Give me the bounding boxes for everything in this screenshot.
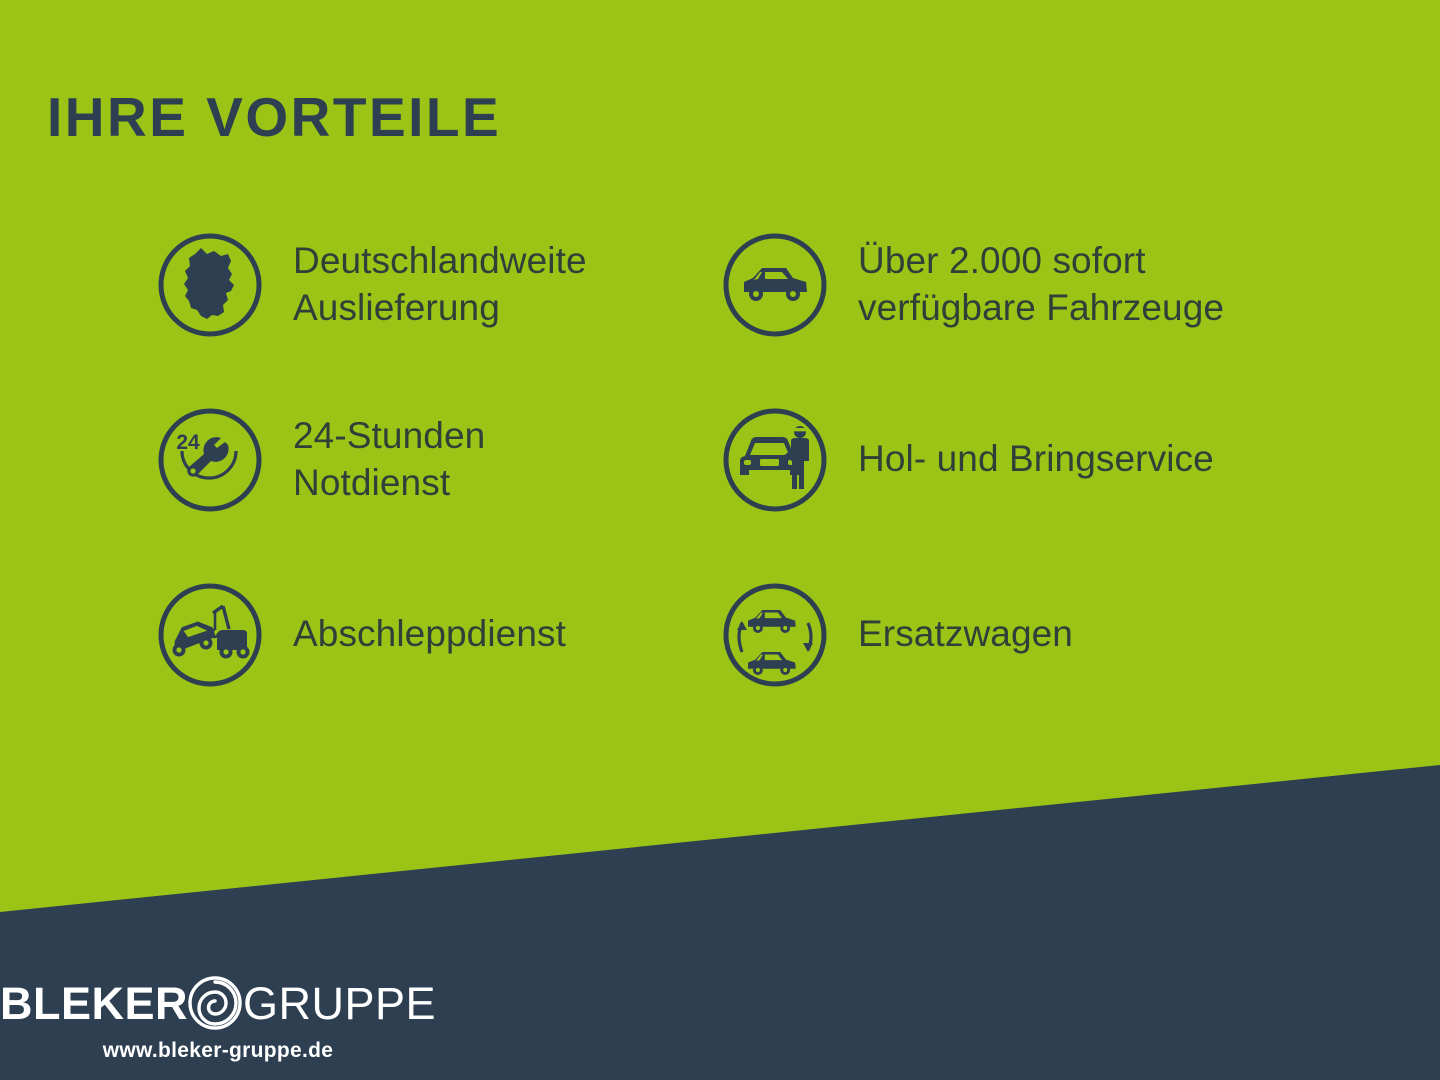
benefit-label: Deutschlandweite Auslieferung	[293, 228, 587, 331]
logo-website-url: www.bleker-gruppe.de	[103, 1039, 333, 1063]
benefit-label-line: Abschleppdienst	[293, 613, 566, 654]
benefit-item-abschleppdienst: Abschleppdienst	[155, 578, 720, 753]
car-swap-icon	[720, 580, 830, 690]
benefit-item-24-stunden-notdienst: 24 24-Stunden Notdienst	[155, 403, 720, 578]
tow-truck-icon	[155, 580, 265, 690]
benefit-label: Über 2.000 sofort verfügbare Fahrzeuge	[858, 228, 1224, 331]
24h-wrench-icon: 24	[155, 405, 265, 515]
benefit-label-line: Über 2.000 sofort	[858, 240, 1146, 281]
benefit-label: Ersatzwagen	[858, 578, 1073, 657]
benefit-item-hol-und-bringservice: Hol- und Bringservice	[720, 403, 1285, 578]
benefit-item-ersatzwagen: Ersatzwagen	[720, 578, 1285, 753]
benefits-grid: Deutschlandweite Auslieferung Über	[155, 228, 1385, 753]
logo-secondary-text: GRUPPE	[243, 981, 436, 1026]
benefit-label-line: Ersatzwagen	[858, 613, 1073, 654]
benefit-item-verfuegbare-fahrzeuge: Über 2.000 sofort verfügbare Fahrzeuge	[720, 228, 1285, 403]
page-title: IHRE VORTEILE	[47, 90, 501, 145]
spiral-circle-icon	[184, 972, 246, 1034]
svg-text:24: 24	[176, 431, 200, 454]
footer-logo: BLEKER GRUPPE www.bleker-gruppe.de	[33, 975, 403, 1063]
benefit-label-line: 24-Stunden	[293, 415, 485, 456]
logo-primary-text: BLEKER	[0, 981, 188, 1026]
benefit-label-line: Auslieferung	[293, 287, 500, 328]
car-with-driver-icon	[720, 405, 830, 515]
benefit-label: Hol- und Bringservice	[858, 403, 1214, 482]
benefit-label-line: Hol- und Bringservice	[858, 438, 1214, 479]
benefit-label-line: Deutschlandweite	[293, 240, 587, 281]
germany-map-icon	[155, 230, 265, 340]
benefit-label-line: Notdienst	[293, 462, 450, 503]
benefit-label: 24-Stunden Notdienst	[293, 403, 485, 506]
car-side-icon	[720, 230, 830, 340]
benefit-label: Abschleppdienst	[293, 578, 566, 657]
benefit-label-line: verfügbare Fahrzeuge	[858, 287, 1224, 328]
slide-canvas: IHRE VORTEILE Deutschlandweite Ausliefer…	[0, 0, 1440, 1080]
benefit-item-deutschlandweite-auslieferung: Deutschlandweite Auslieferung	[155, 228, 720, 403]
logo-wordmark: BLEKER GRUPPE	[0, 975, 436, 1031]
